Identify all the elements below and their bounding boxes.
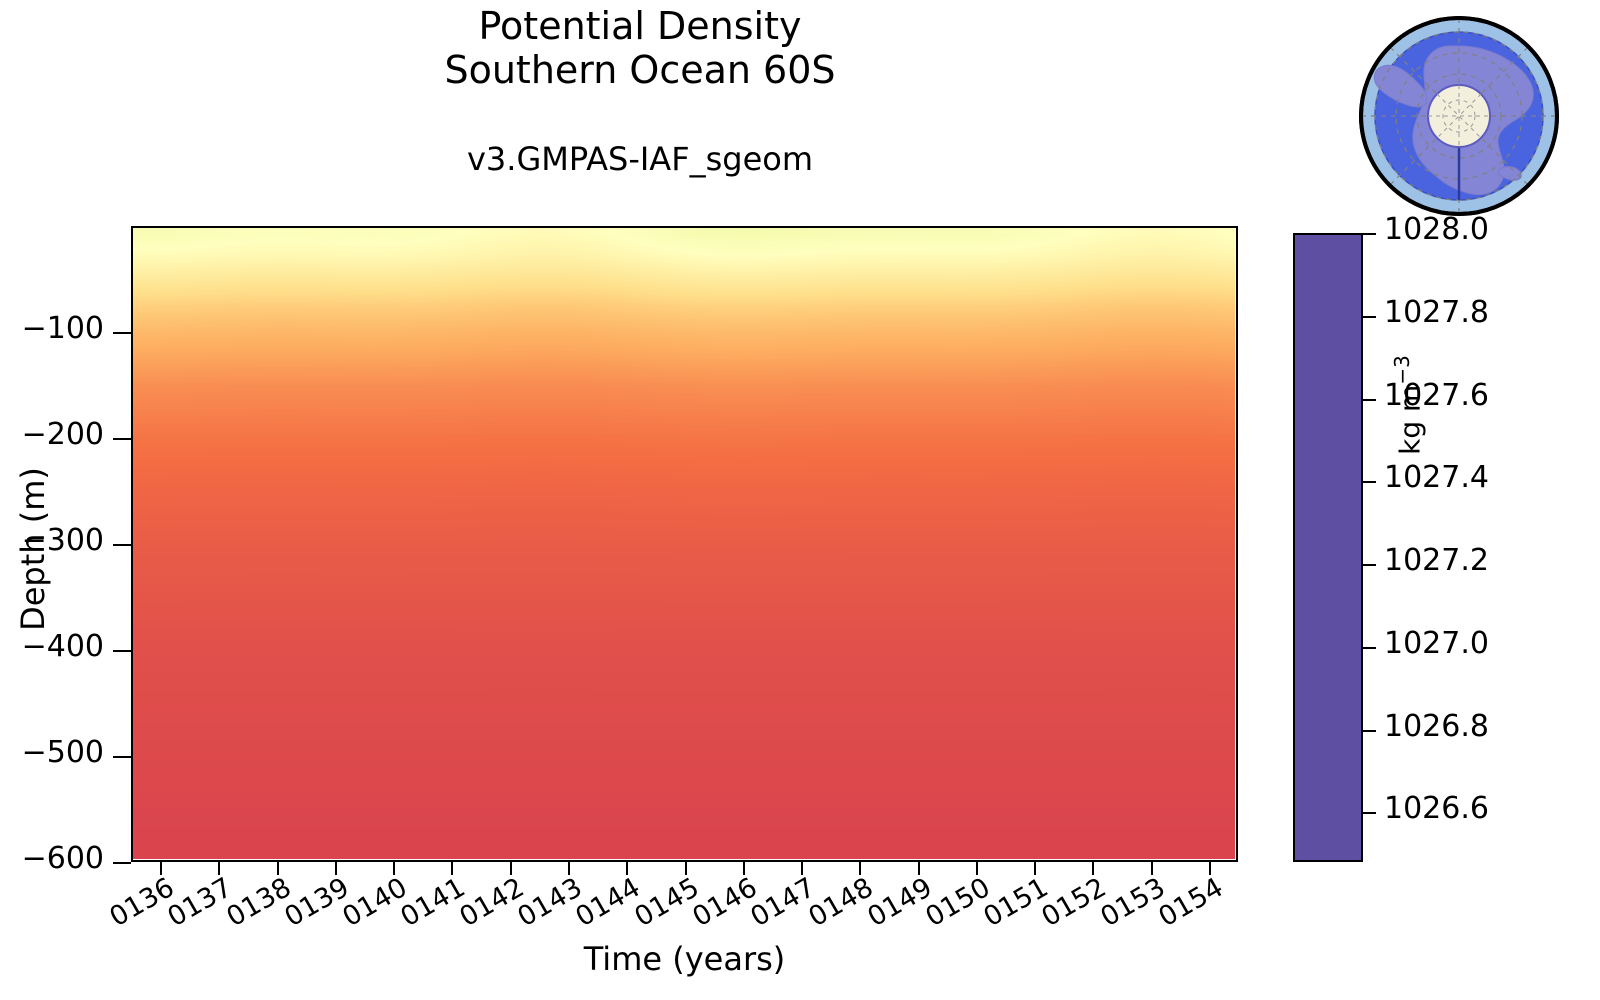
colorbar-tick-mark [1363,399,1376,401]
y-axis-tick-mark [113,650,131,652]
figure-subtitle: v3.GMPAS-IAF_sgeom [0,140,1280,178]
y-axis-tick-label: −300 [0,523,104,558]
figure-canvas: Potential Density Southern Ocean 60S v3.… [0,0,1600,1000]
colorbar-tick-mark [1363,564,1376,566]
colorbar-unit-text: kg m [1393,385,1426,455]
y-axis-tick-label: −600 [0,841,104,876]
colorbar-tick-label: 1026.6 [1384,791,1489,826]
y-axis-tick-label: −100 [0,311,104,346]
y-axis-tick-mark [113,438,131,440]
colorbar-tick-mark [1363,812,1376,814]
y-axis-tick-label: −400 [0,629,104,664]
antarctica-inset-map [1351,8,1567,224]
y-axis-tick-label: −200 [0,417,104,452]
colorbar-tick-label: 1026.8 [1384,709,1489,744]
y-axis-tick-mark [113,756,131,758]
polar-map-svg [1351,8,1567,224]
y-axis-tick-mark [113,544,131,546]
colorbar [1293,233,1363,862]
figure-title-line2: Southern Ocean 60S [0,48,1280,92]
colorbar-tick-mark [1363,730,1376,732]
colorbar-tick-label: 1027.2 [1384,543,1489,578]
colorbar-tick-mark [1363,647,1376,649]
y-axis-tick-mark [113,332,131,334]
figure-title-line1: Potential Density [0,4,1280,48]
colorbar-tick-mark [1363,233,1376,235]
colorbar-tick-mark [1363,316,1376,318]
colorbar-title: kg m−3 [1390,285,1426,525]
heatmap-plot-area [131,226,1238,862]
x-axis-title: Time (years) [131,940,1238,978]
colorbar-tick-mark [1363,481,1376,483]
colorbar-tick-label: 1027.0 [1384,626,1489,661]
colorbar-unit-exponent: −3 [1390,355,1414,384]
colorbar-gradient [1295,235,1361,860]
heatmap-image [133,228,1236,860]
figure-title: Potential Density Southern Ocean 60S [0,4,1280,92]
y-axis-tick-mark [113,862,131,864]
y-axis-tick-label: −500 [0,735,104,770]
